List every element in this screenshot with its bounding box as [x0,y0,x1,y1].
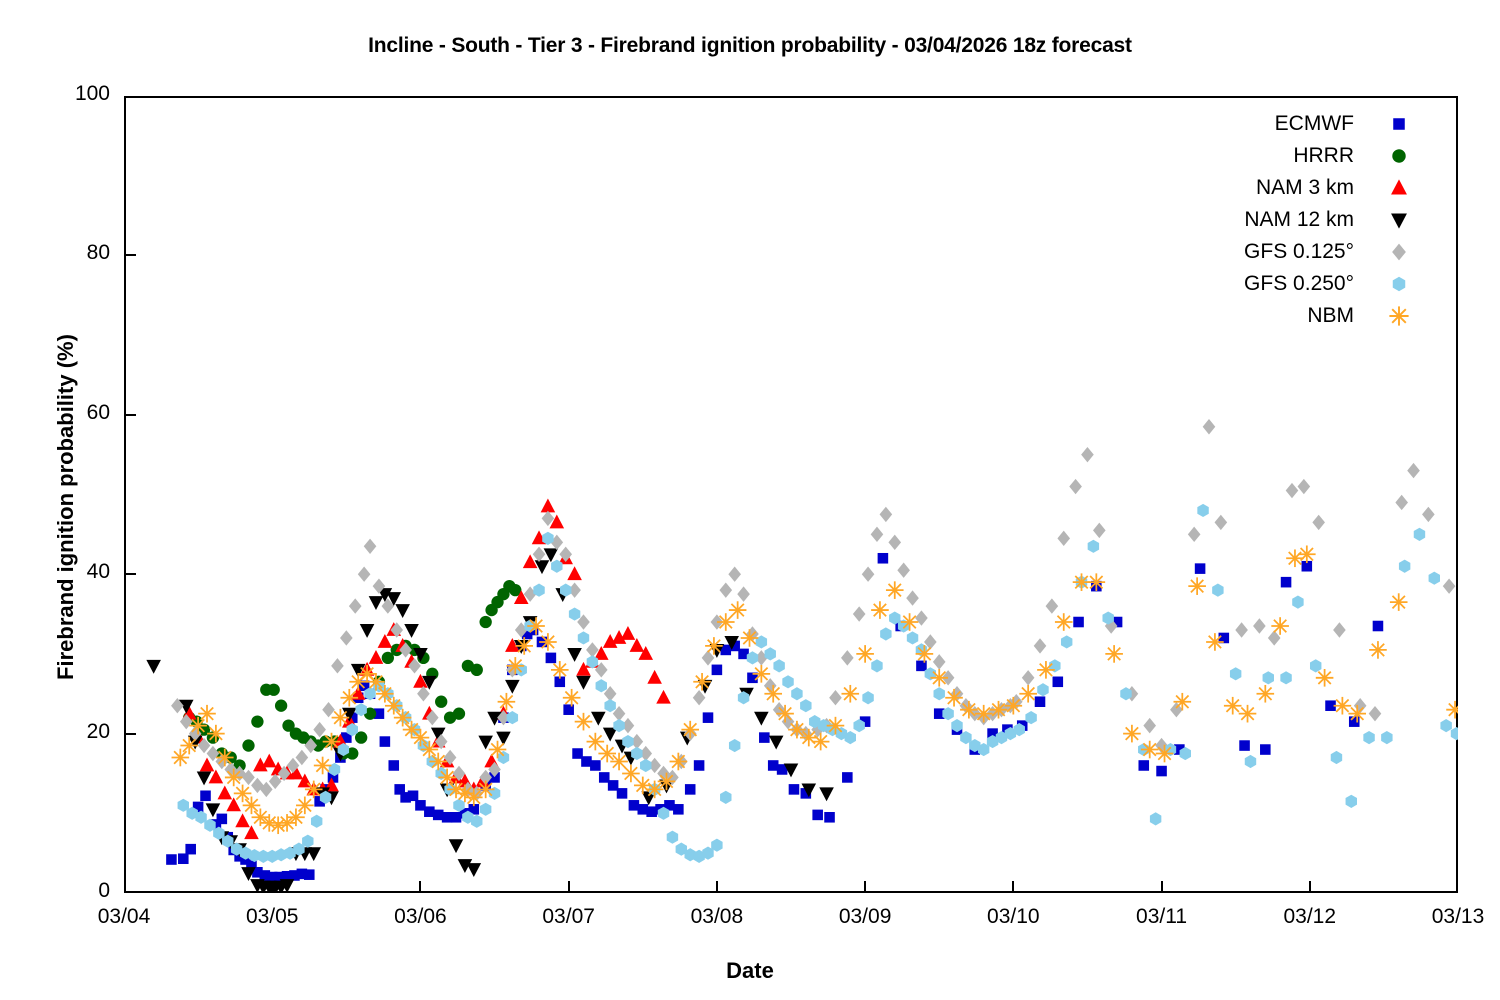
hexagon-marker-icon [1388,270,1410,298]
x-tick-label: 03/08 [657,905,777,929]
x-tick-label: 03/05 [212,905,332,929]
legend-label: GFS 0.250° [1244,272,1388,296]
chart-figure: Incline - South - Tier 3 - Firebrand ign… [0,0,1500,1000]
y-tick-mark [124,573,136,575]
legend-item-gfs-0-250[interactable]: GFS 0.250° [1180,268,1410,300]
x-tick-label: 03/10 [953,905,1073,929]
legend-item-nam-3-km[interactable]: NAM 3 km [1180,172,1410,204]
y-tick-label: 100 [20,82,110,106]
x-tick-label: 03/04 [64,905,184,929]
x-tick-mark [1161,881,1163,893]
legend-label: NAM 12 km [1244,208,1388,232]
x-tick-mark [716,881,718,893]
diamond-marker-icon [1388,238,1410,266]
x-tick-label: 03/07 [509,905,629,929]
y-tick-mark [124,414,136,416]
x-tick-label: 03/06 [360,905,480,929]
x-axis-label: Date [0,958,1500,984]
legend-item-hrrr[interactable]: HRRR [1180,140,1410,172]
asterisk-marker-icon [1388,302,1410,330]
x-tick-label: 03/12 [1250,905,1370,929]
x-tick-label: 03/13 [1398,905,1500,929]
y-axis-label: Firebrand ignition probability (%) [53,227,79,787]
legend-item-nam-12-km[interactable]: NAM 12 km [1180,204,1410,236]
y-tick-label: 40 [20,560,110,584]
y-tick-label: 0 [20,879,110,903]
y-tick-label: 60 [20,401,110,425]
triangle-down-marker-icon [1388,206,1410,234]
y-tick-label: 80 [20,241,110,265]
x-tick-mark [568,881,570,893]
legend-label: NBM [1307,304,1388,328]
legend-item-nbm[interactable]: NBM [1180,300,1410,332]
y-tick-label: 20 [20,720,110,744]
legend-label: HRRR [1293,144,1388,168]
chart-title: Incline - South - Tier 3 - Firebrand ign… [0,34,1500,58]
legend-label: ECMWF [1275,112,1388,136]
legend-item-ecmwf[interactable]: ECMWF [1180,108,1410,140]
chart-legend: ECMWFHRRRNAM 3 kmNAM 12 kmGFS 0.125°GFS … [1180,108,1410,332]
x-tick-label: 03/09 [805,905,925,929]
legend-label: GFS 0.125° [1244,240,1388,264]
circle-marker-icon [1388,142,1410,170]
square-marker-icon [1388,110,1410,138]
x-tick-mark [271,881,273,893]
x-tick-mark [419,881,421,893]
x-tick-mark [1012,881,1014,893]
legend-label: NAM 3 km [1256,176,1388,200]
x-tick-mark [1309,881,1311,893]
triangle-up-marker-icon [1388,174,1410,202]
x-tick-mark [864,881,866,893]
y-tick-mark [124,733,136,735]
legend-item-gfs-0-125[interactable]: GFS 0.125° [1180,236,1410,268]
x-tick-label: 03/11 [1102,905,1222,929]
y-tick-mark [124,254,136,256]
